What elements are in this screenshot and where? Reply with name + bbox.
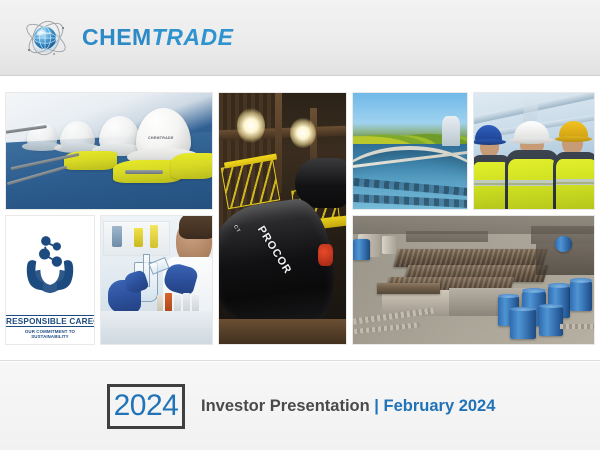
footer-divider <box>0 360 600 361</box>
photo-workers-hi-vis <box>473 92 595 210</box>
brand-word-chem: CHEM <box>82 24 152 50</box>
year-badge: 2024 <box>107 384 185 429</box>
photo-hard-hats-safety-equipment: CHEMTRADE <box>5 92 213 210</box>
photo-responsible-care-logo: RESPONSIBLE CARE® OUR COMMITMENT TO SUST… <box>5 215 95 345</box>
responsible-care-line-1: RESPONSIBLE CARE® <box>6 315 94 327</box>
presentation-title-separator: | <box>370 397 384 415</box>
chemtrade-logo: CHEMTRADE <box>18 10 233 66</box>
brand-word-trade: TRADE <box>152 24 234 50</box>
responsible-care-icon <box>16 226 85 305</box>
presentation-title-main: Investor Presentation <box>201 397 370 415</box>
globe-orbit-icon <box>18 10 74 66</box>
responsible-care-line-3: SUSTAINABILITY <box>6 334 94 339</box>
slide-header: CHEMTRADE <box>0 0 600 76</box>
slide-footer: 2024 Investor Presentation | February 20… <box>0 362 600 450</box>
chemtrade-wordmark: CHEMTRADE <box>82 26 233 49</box>
photo-chemical-plant-aerial <box>352 215 595 345</box>
year-label: 2024 <box>114 391 179 421</box>
presentation-title: Investor Presentation | February 2024 <box>201 398 495 415</box>
photo-collage: CHEMTRADE <box>5 92 595 350</box>
presentation-title-slide: CHEMTRADE CHEMTRADE <box>0 0 600 450</box>
photo-water-treatment-clarifier <box>352 92 468 210</box>
photo-laboratory-technician <box>100 215 213 345</box>
presentation-date: February 2024 <box>384 397 496 415</box>
photo-rail-tank-car: PROCOR CT <box>218 92 347 345</box>
responsible-care-wordmark: RESPONSIBLE CARE® OUR COMMITMENT TO SUST… <box>6 315 94 339</box>
